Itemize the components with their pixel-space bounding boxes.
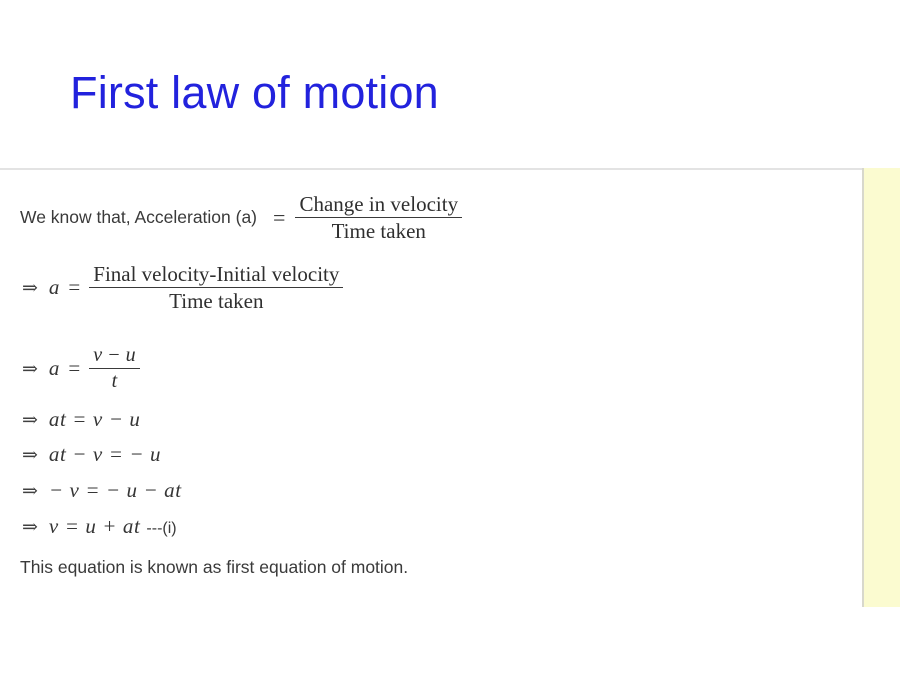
fraction-numerator: v − u: [89, 344, 139, 369]
implies-arrow-icon: ⇒: [22, 444, 38, 466]
right-accent-strip: [862, 168, 900, 607]
fraction-denominator: Time taken: [89, 288, 343, 313]
slide-canvas: First law of motion We know that, Accele…: [0, 0, 900, 675]
derivation-line-3: ⇒ a = v − u t: [22, 344, 140, 393]
equals-sign: =: [68, 356, 80, 381]
derivation-step: ⇒ at − v = − u: [22, 442, 167, 467]
fraction-numerator: Final velocity-Initial velocity: [89, 262, 343, 288]
variable-a: a: [49, 275, 60, 300]
fraction-change-in-velocity-over-time: Change in velocity Time taken: [295, 192, 462, 244]
equation-expression: at = v − u: [49, 407, 141, 432]
equation-tag: ---(i): [146, 520, 176, 538]
fraction-denominator: t: [89, 369, 139, 393]
implies-arrow-icon: ⇒: [22, 480, 38, 502]
right-accent-strip-fill: [864, 168, 900, 607]
equals-sign: =: [68, 275, 80, 300]
fraction-denominator: Time taken: [295, 218, 462, 243]
derivation-line-2: ⇒ a = Final velocity-Initial velocity Ti…: [22, 262, 343, 314]
implies-arrow-icon: ⇒: [22, 409, 38, 431]
derivation-line-intro: We know that, Acceleration (a) = Change …: [20, 192, 462, 244]
equation-expression: v = u + at: [49, 514, 141, 539]
title-divider: [0, 168, 862, 170]
derivation-content: We know that, Acceleration (a) = Change …: [0, 172, 862, 607]
derivation-step: ⇒ − v = − u − at: [22, 478, 188, 503]
implies-arrow-icon: ⇒: [22, 516, 38, 538]
implies-arrow-icon: ⇒: [22, 277, 38, 299]
derivation-step: ⇒ at = v − u: [22, 407, 146, 432]
variable-a: a: [49, 356, 60, 381]
conclusion-text: This equation is known as first equation…: [20, 557, 408, 578]
equals-sign: =: [273, 205, 285, 231]
page-title: First law of motion: [70, 68, 439, 118]
fraction-v-minus-u-over-t: v − u t: [89, 344, 139, 393]
equation-expression: − v = − u − at: [49, 478, 182, 503]
fraction-final-minus-initial-over-time: Final velocity-Initial velocity Time tak…: [89, 262, 343, 314]
acceleration-definition-label: We know that, Acceleration (a): [20, 207, 257, 228]
fraction-numerator: Change in velocity: [295, 192, 462, 218]
derivation-step-final: ⇒ v = u + at ---(i): [22, 514, 177, 539]
equation-expression: at − v = − u: [49, 442, 161, 467]
implies-arrow-icon: ⇒: [22, 358, 38, 380]
